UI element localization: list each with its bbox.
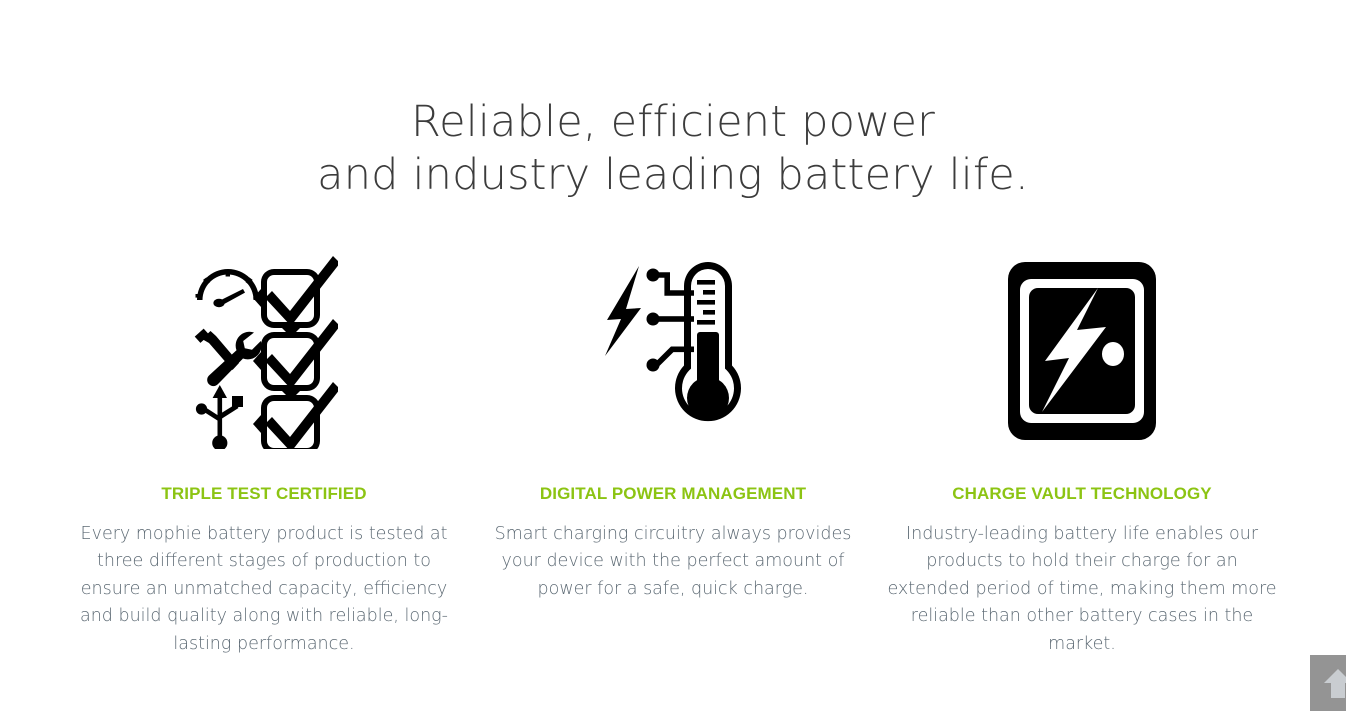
- feature-title: CHARGE VAULT TECHNOLOGY: [952, 484, 1212, 504]
- feature-columns: TRIPLE TEST CERTIFIED Every mophie batte…: [0, 246, 1346, 658]
- charge-vault-icon: [1003, 246, 1161, 456]
- thermometer-icon: [675, 262, 741, 421]
- dial-knob-icon: [1102, 342, 1124, 366]
- feature-title: TRIPLE TEST CERTIFIED: [161, 484, 366, 504]
- feature-column-charge-vault: CHARGE VAULT TECHNOLOGY Industry-leading…: [878, 246, 1287, 658]
- usb-icon: [196, 385, 243, 449]
- feature-body: Every mophie battery product is tested a…: [68, 521, 460, 658]
- gauge-icon: [196, 269, 261, 307]
- thermometer-power-icon: [601, 246, 745, 456]
- arrow-up-icon: [1323, 667, 1346, 699]
- back-to-top-button[interactable]: [1310, 655, 1346, 711]
- lightning-bolt-icon: [605, 266, 641, 356]
- feature-body: Smart charging circuitry always provides…: [482, 521, 864, 603]
- triple-test-checklist-icon: [190, 246, 338, 456]
- feature-title: DIGITAL POWER MANAGEMENT: [540, 484, 806, 504]
- check-badge-icon: [253, 256, 338, 337]
- page-headline: Reliable, efficient power and industry l…: [0, 96, 1346, 202]
- tools-icon: [195, 328, 262, 386]
- feature-column-digital-power: DIGITAL POWER MANAGEMENT Smart charging …: [469, 246, 878, 603]
- feature-body: Industry-leading battery life enables ou…: [886, 521, 1278, 658]
- feature-column-triple-test: TRIPLE TEST CERTIFIED Every mophie batte…: [60, 246, 469, 658]
